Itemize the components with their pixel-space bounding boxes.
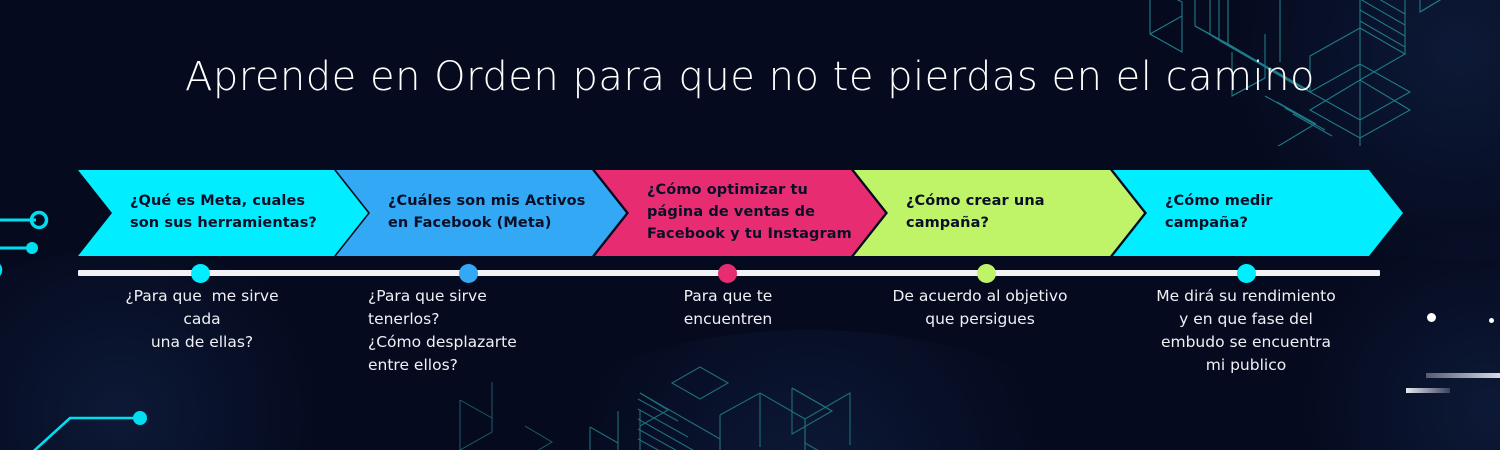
chevron-step-row: ¿Qué es Meta, cuales son sus herramienta… — [0, 170, 1500, 256]
isometric-wireframe-bottom-left — [440, 380, 580, 450]
chevron-step-3[interactable]: ¿Cómo optimizar tu página de ventas de F… — [595, 170, 885, 256]
decorative-dot-2 — [1489, 318, 1494, 323]
caption-step-1: ¿Para que me sirve cada una de ellas? — [42, 285, 362, 354]
chevron-step-2[interactable]: ¿Cuáles son mis Activos en Facebook (Met… — [336, 170, 626, 256]
chevron-step-5[interactable]: ¿Cómo medir campaña? — [1113, 170, 1403, 256]
chevron-step-4[interactable]: ¿Cómo crear una campaña? — [854, 170, 1144, 256]
chevron-step-4-label: ¿Cómo crear una campaña? — [854, 191, 1079, 235]
timeline-dot-step-1[interactable] — [191, 264, 210, 283]
timeline-dot-step-5[interactable] — [1237, 264, 1256, 283]
page-title: Aprende en Orden para que no te pierdas … — [0, 54, 1500, 100]
chevron-step-3-label: ¿Cómo optimizar tu página de ventas de F… — [595, 180, 886, 245]
timeline-dot-step-4[interactable] — [977, 264, 996, 283]
chevron-step-1-label: ¿Qué es Meta, cuales son sus herramienta… — [78, 191, 351, 235]
circuit-line-pattern-bottom-left — [0, 370, 200, 450]
circuit-ring — [0, 263, 1, 278]
timeline-dot-step-3[interactable] — [718, 264, 737, 283]
decorative-gradient-bar-1 — [1426, 373, 1500, 378]
chevron-step-1[interactable]: ¿Qué es Meta, cuales son sus herramienta… — [78, 170, 368, 256]
timeline-dot-step-2[interactable] — [459, 264, 478, 283]
decorative-dot-1 — [1427, 313, 1436, 322]
chevron-step-2-label: ¿Cuáles son mis Activos en Facebook (Met… — [336, 191, 619, 235]
decorative-gradient-bar-2 — [1406, 388, 1450, 393]
circuit-dot — [133, 411, 147, 425]
caption-step-5: Me dirá su rendimiento y en que fase del… — [1086, 285, 1406, 377]
